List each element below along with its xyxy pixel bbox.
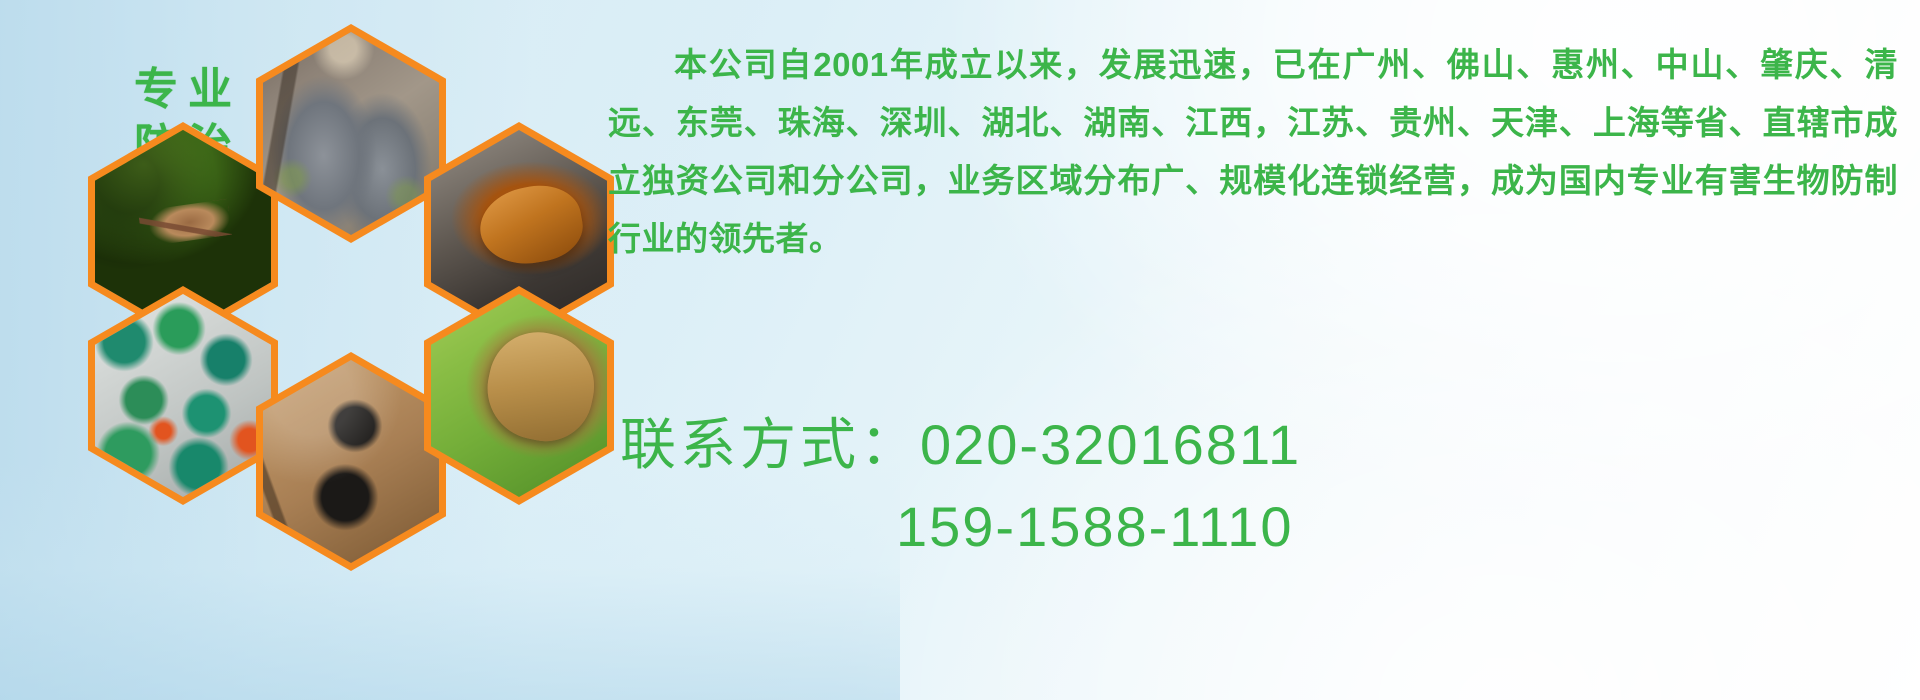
- contact-line-mobile: 159-1588-1110: [896, 486, 1910, 568]
- contact-block: 联系方式：020-32016811 159-1588-1110: [620, 404, 1910, 568]
- pest-control-banner: 专业 防治 本公司自2001年成立以来，发展迅速，已在广州、佛山、惠州、中山、肇…: [0, 0, 1920, 700]
- slogan-line-1: 专业: [124, 68, 242, 112]
- contact-line-landline: 联系方式：020-32016811: [620, 404, 1910, 486]
- hex-photo-flies: [88, 286, 278, 505]
- hex-photo-rats: [256, 24, 446, 243]
- hex-inner-stinkbug: [431, 294, 607, 497]
- hex-photo-ant: [256, 352, 446, 571]
- rats-photo: [263, 32, 439, 235]
- intro-copy-block: 本公司自2001年成立以来，发展迅速，已在广州、佛山、惠州、中山、肇庆、清远、东…: [608, 36, 1898, 268]
- intro-paragraph: 本公司自2001年成立以来，发展迅速，已在广州、佛山、惠州、中山、肇庆、清远、东…: [608, 36, 1898, 268]
- phone-landline[interactable]: 020-32016811: [920, 413, 1301, 476]
- hex-inner-ant: [263, 360, 439, 563]
- hexagon-photo-collage: 专业 防治: [88, 8, 588, 568]
- ant-photo: [263, 360, 439, 563]
- hex-inner-flies: [95, 294, 271, 497]
- hex-photo-stinkbug: [424, 286, 614, 505]
- stinkbug-photo: [431, 294, 607, 497]
- contact-label: 联系方式：: [620, 413, 920, 476]
- flies-photo: [95, 294, 271, 497]
- hex-inner-rats: [263, 32, 439, 235]
- phone-mobile[interactable]: 159-1588-1110: [896, 495, 1294, 558]
